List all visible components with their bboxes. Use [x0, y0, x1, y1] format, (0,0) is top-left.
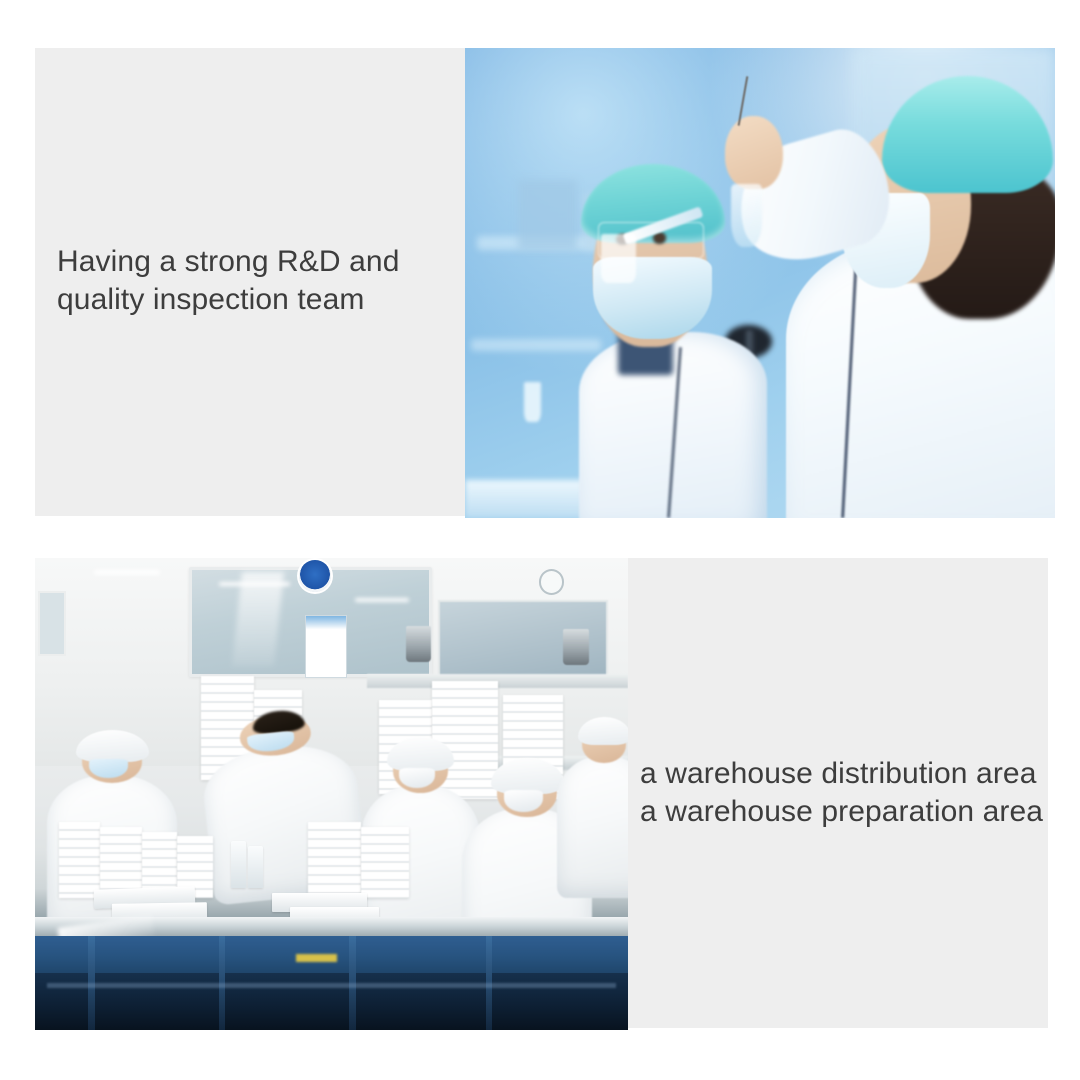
carton-stack [59, 822, 101, 898]
top-section: Having a strong R&D andquality inspectio… [0, 0, 1080, 530]
product-bottle-icon [248, 846, 262, 888]
warehouse-worker [557, 756, 628, 898]
wall-notice-poster [305, 615, 347, 678]
undershelf-bar [47, 983, 616, 989]
carton-stack [361, 827, 408, 898]
carton-stack [100, 827, 142, 898]
bottom-section: a warehouse distribution areaa warehouse… [0, 530, 1080, 1080]
bottom-caption-line-2: a warehouse preparation area [640, 795, 1043, 828]
lab-coat [557, 756, 628, 898]
ceiling-lamp-icon [94, 570, 159, 575]
lab-flask-icon [731, 184, 762, 247]
technician-hand [725, 116, 783, 188]
bottom-caption-line-1: a warehouse distribution area [640, 757, 1036, 790]
lab-inspection-photo [465, 48, 1055, 518]
lab-technician-right [725, 67, 1055, 518]
wall-logo-icon [299, 560, 331, 592]
top-caption-line-1: Having a strong R&D and [57, 245, 399, 278]
warehouse-packing-photo [35, 558, 628, 1030]
product-bottle-icon [231, 841, 246, 888]
stainless-pot-icon [406, 626, 431, 661]
bottom-caption: a warehouse distribution areaa warehouse… [640, 755, 1043, 831]
lab-beaker-icon [601, 234, 635, 284]
top-caption: Having a strong R&D andquality inspectio… [57, 243, 399, 319]
floor-tape-marking [296, 954, 338, 962]
ceiling-lamp-icon [219, 582, 290, 587]
lab-beaker-icon [524, 382, 541, 421]
stainless-pot-icon [563, 629, 589, 665]
top-caption-line-2: quality inspection team [57, 283, 364, 316]
ceiling-lamp-icon [355, 598, 408, 603]
back-counter [367, 674, 628, 688]
cleanroom-window [38, 591, 66, 656]
carton-stack [308, 822, 361, 902]
hairnet-cap-icon [882, 76, 1053, 193]
